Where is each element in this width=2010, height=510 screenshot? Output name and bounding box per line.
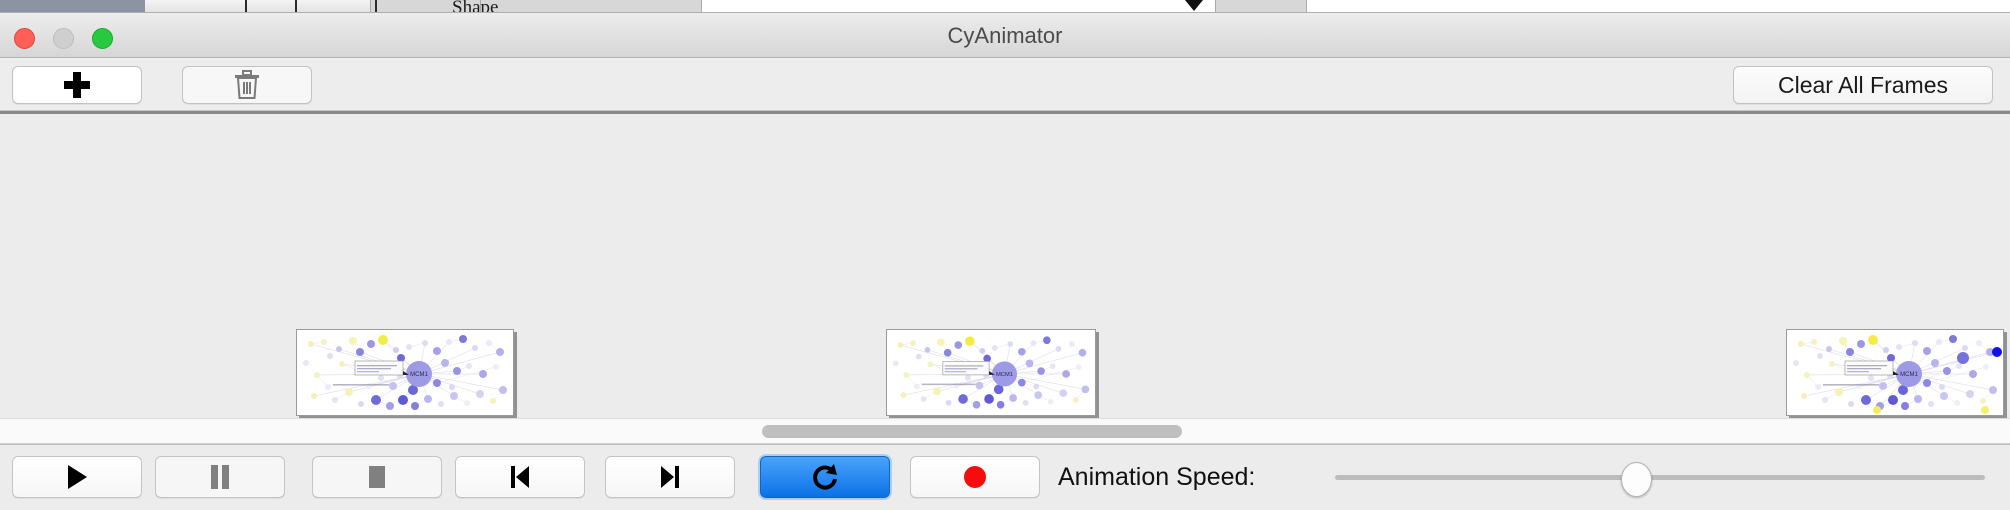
network-thumbnail: MCM1	[887, 330, 1095, 415]
svg-text:MCM1: MCM1	[1900, 372, 1918, 378]
pause-icon	[207, 463, 233, 491]
svg-text:MCM1: MCM1	[996, 372, 1013, 378]
timeline-scrollbar[interactable]	[0, 418, 2010, 444]
timeline-panel[interactable]: MCM1MCM1MCM1 12131415161718 Seconds	[0, 111, 2010, 418]
pause-button[interactable]	[155, 456, 285, 498]
window-title: CyAnimator	[0, 13, 2010, 58]
background-window-strip: Shape	[0, 0, 2010, 13]
animation-speed-slider[interactable]	[1335, 456, 1985, 498]
record-button[interactable]	[910, 456, 1040, 498]
skip-back-icon	[507, 463, 533, 491]
play-icon	[64, 463, 90, 491]
record-icon	[961, 463, 989, 491]
playback-bar: Animation Speed:	[0, 444, 2010, 510]
animation-speed-track	[1335, 475, 1985, 480]
clear-all-frames-button[interactable]: Clear All Frames	[1733, 66, 1993, 104]
loop-icon	[810, 462, 840, 492]
timeline-scrollbar-thumb[interactable]	[762, 425, 1182, 438]
add-frame-button[interactable]	[12, 66, 142, 104]
svg-text:MCM1: MCM1	[410, 372, 428, 378]
network-thumbnail: MCM1	[297, 330, 513, 415]
animation-speed-thumb[interactable]	[1621, 462, 1652, 497]
skip-forward-icon	[657, 463, 683, 491]
toolbar: Clear All Frames	[0, 58, 2010, 111]
keyframe-thumbnail[interactable]: MCM1	[296, 329, 514, 416]
delete-frame-button[interactable]	[182, 66, 312, 104]
animation-speed-label: Animation Speed:	[1058, 456, 1255, 498]
stop-button[interactable]	[312, 456, 442, 498]
keyframe-thumbnail[interactable]: MCM1	[886, 329, 1096, 416]
title-bar: CyAnimator	[0, 13, 2010, 58]
plus-icon	[64, 72, 90, 98]
skip-to-start-button[interactable]	[455, 456, 585, 498]
skip-to-end-button[interactable]	[605, 456, 735, 498]
play-button[interactable]	[12, 456, 142, 498]
trash-icon	[233, 70, 261, 100]
stop-icon	[364, 463, 390, 491]
background-window-caret-icon	[1185, 0, 1203, 11]
loop-button[interactable]	[760, 456, 890, 498]
network-thumbnail: MCM1	[1787, 330, 2003, 415]
keyframe-thumbnail[interactable]: MCM1	[1786, 329, 2004, 416]
